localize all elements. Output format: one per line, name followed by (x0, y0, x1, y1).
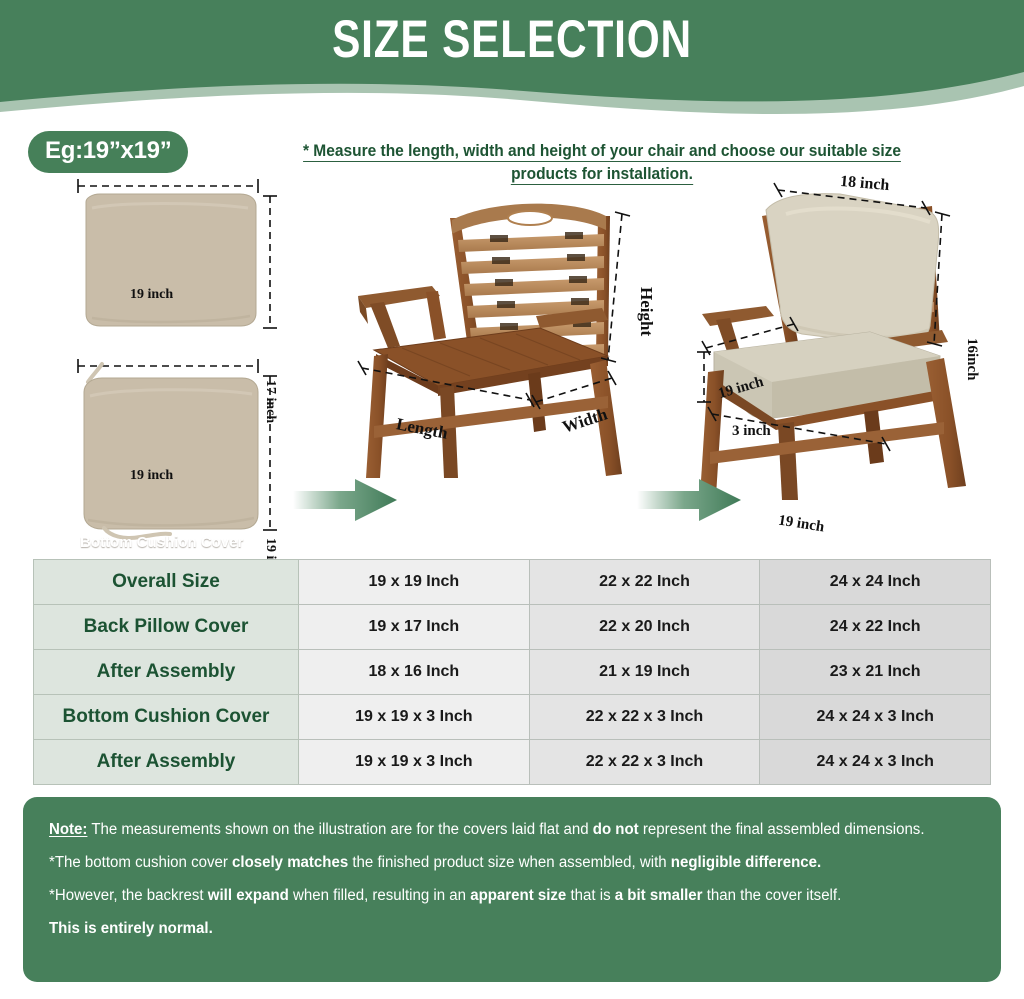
cell-back-pillow-22: 22 x 20 Inch (529, 605, 760, 650)
note-line-2d: negligible difference. (671, 854, 821, 871)
cell-back-pillow-24: 24 x 22 Inch (760, 605, 991, 650)
page-title: SIZE SELECTION (102, 12, 921, 68)
table-row: Overall Size 19 x 19 Inch 22 x 22 Inch 2… (34, 560, 991, 605)
table-row: Bottom Cushion Cover 19 x 19 x 3 Inch 22… (34, 695, 991, 740)
arrow-right-icon-1 (293, 475, 403, 525)
note-line-4: This is entirely normal. (49, 916, 947, 941)
cell-after-assembly-pillow-22: 21 x 19 Inch (529, 650, 760, 695)
cell-bottom-cushion-24: 24 x 24 x 3 Inch (760, 695, 991, 740)
row-header-after-assembly-pillow: After Assembly (34, 650, 299, 695)
row-header-bottom-cushion-cover: Bottom Cushion Cover (34, 695, 299, 740)
cell-after-assembly-pillow-24: 23 x 21 Inch (760, 650, 991, 695)
note-line-3a: *However, the backrest (49, 887, 208, 904)
pillow-height-label: 16inch (963, 338, 980, 381)
note-line-2c: the finished product size when assembled… (348, 854, 671, 871)
cell-after-assembly-cushion-19: 19 x 19 x 3 Inch (299, 740, 530, 785)
row-header-after-assembly-cushion: After Assembly (34, 740, 299, 785)
back-pillow-cover-illustration (62, 168, 282, 338)
note-line-2b: closely matches (232, 854, 348, 871)
page-header: SIZE SELECTION (0, 0, 1024, 118)
note-line-3: *However, the backrest will expand when … (49, 883, 947, 908)
note-box: Note: The measurements shown on the illu… (23, 797, 1001, 982)
cell-overall-size-22: 22 x 22 Inch (529, 560, 760, 605)
row-header-overall-size: Overall Size (34, 560, 299, 605)
note-line-3c: when filled, resulting in an (289, 887, 470, 904)
cell-back-pillow-19: 19 x 17 Inch (299, 605, 530, 650)
note-line-1a: The measurements shown on the illustrati… (87, 821, 592, 838)
note-line-2a: *The bottom cushion cover (49, 854, 232, 871)
note-line-3e: that is (566, 887, 614, 904)
cushion-thickness-label: 3 inch (732, 423, 771, 440)
cell-after-assembly-pillow-19: 18 x 16 Inch (299, 650, 530, 695)
assembled-chair-illustration (690, 166, 1010, 516)
note-line-3d: apparent size (470, 887, 566, 904)
row-header-back-pillow-cover: Back Pillow Cover (34, 605, 299, 650)
cell-overall-size-19: 19 x 19 Inch (299, 560, 530, 605)
bottom-cushion-width-label: 19 inch (130, 468, 173, 484)
note-line-3g: than the cover itself. (703, 887, 842, 904)
note-line-2: *The bottom cushion cover closely matche… (49, 850, 947, 875)
plain-chair-illustration (340, 178, 660, 518)
table-row: Back Pillow Cover 19 x 17 Inch 22 x 20 I… (34, 605, 991, 650)
cell-after-assembly-cushion-24: 24 x 24 x 3 Inch (760, 740, 991, 785)
illustration-area: 19 inch 17 inch Back Pillow Cover 19 inc… (0, 118, 1024, 548)
note-line-3b: will expand (208, 887, 289, 904)
cell-overall-size-24: 24 x 24 Inch (760, 560, 991, 605)
cell-bottom-cushion-22: 22 x 22 x 3 Inch (529, 695, 760, 740)
seat-width-label: 19 inch (777, 512, 825, 536)
note-label: Note: (49, 821, 87, 838)
note-line-4-text: This is entirely normal. (49, 920, 213, 937)
note-line-1b: do not (593, 821, 639, 838)
size-table: Overall Size 19 x 19 Inch 22 x 22 Inch 2… (33, 559, 991, 785)
bottom-cushion-cover-label: Bottom Cushion Cover (80, 534, 243, 551)
table-row: After Assembly 18 x 16 Inch 21 x 19 Inch… (34, 650, 991, 695)
note-line-3f: a bit smaller (615, 887, 703, 904)
cell-bottom-cushion-19: 19 x 19 x 3 Inch (299, 695, 530, 740)
chair-height-label: Height (636, 287, 656, 336)
back-pillow-width-label: 19 inch (130, 287, 173, 303)
note-line-1c: represent the final assembled dimensions… (639, 821, 925, 838)
table-row: After Assembly 19 x 19 x 3 Inch 22 x 22 … (34, 740, 991, 785)
cell-after-assembly-cushion-22: 22 x 22 x 3 Inch (529, 740, 760, 785)
bottom-cushion-cover-illustration (62, 348, 292, 548)
note-line-1: Note: The measurements shown on the illu… (49, 817, 947, 842)
arrow-right-icon-2 (637, 475, 747, 525)
